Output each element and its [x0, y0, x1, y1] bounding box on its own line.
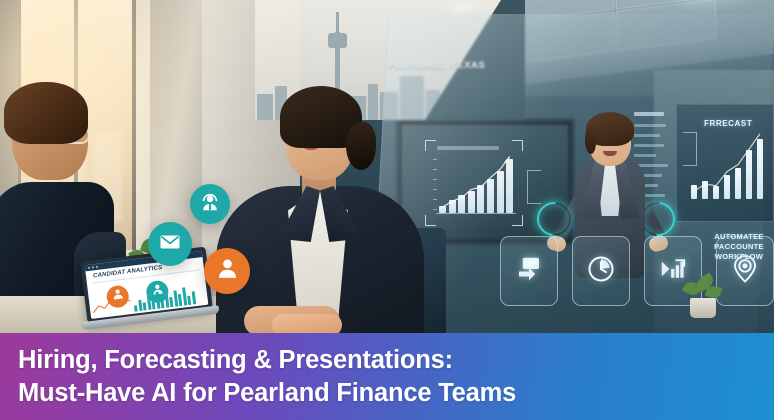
badge-recruiter[interactable]: [190, 184, 230, 224]
axis-tick: [433, 159, 437, 160]
laptop-chart-bar: [143, 302, 147, 310]
laptop-chart-bar: [178, 294, 182, 306]
banner-line-1: Hiring, Forecasting & Presentations:: [18, 344, 774, 377]
title-banner: Hiring, Forecasting & Presentations: Mus…: [0, 333, 774, 420]
document-download-icon: [514, 254, 544, 289]
office-scene: PEARLAND, TEXAS: [0, 0, 774, 333]
person-female-icon: [215, 256, 240, 286]
laptop-chart-bar: [164, 289, 169, 308]
laptop-chart-bar: [146, 296, 151, 310]
bar-chart-arrow-icon: [658, 254, 688, 289]
laptop-chart-bar: [191, 291, 196, 304]
plant-pot: [690, 298, 716, 318]
titlebar-dot: [96, 266, 98, 268]
growth-card[interactable]: [644, 236, 702, 306]
laptop-chart-bar: [138, 300, 142, 311]
businesswoman: [210, 78, 430, 333]
avatar-hair-side: [585, 128, 596, 154]
banner-line-2: Must-Have AI for Pearland Finance Teams: [18, 377, 774, 410]
tower-spike: [336, 12, 339, 34]
laptop-chart-bar: [134, 305, 138, 311]
forecast-label: FRRECAST: [704, 119, 752, 128]
axis-tick: [433, 179, 437, 180]
woman-ponytail: [346, 122, 376, 170]
axis-tick: [433, 209, 437, 210]
laptop-chart-bar: [169, 297, 173, 307]
promotional-banner-image: PEARLAND, TEXAS: [0, 0, 774, 420]
chart-trend-line: [425, 140, 523, 226]
laptop-chart-bar: [173, 291, 178, 307]
trend-sparkline: [91, 292, 133, 319]
laptop-chart-bar: [182, 287, 187, 305]
tower-pod: [328, 33, 347, 48]
hud-bracket-left: [527, 170, 541, 204]
axis-tick: [433, 189, 437, 190]
pie-clock-icon: [586, 254, 616, 289]
laptop-chart-bar: [187, 296, 191, 305]
time-analytics-card[interactable]: [572, 236, 630, 306]
axis-tick: [433, 199, 437, 200]
badge-email[interactable]: [148, 222, 192, 266]
laptop-chart-bar: [151, 299, 155, 309]
axis-tick: [433, 169, 437, 170]
holographic-growth-chart: [425, 140, 523, 226]
laptop-chart-bar: [155, 292, 160, 309]
woman-hands-overlap: [272, 314, 342, 333]
titlebar-dot: [92, 266, 94, 268]
titlebar-dot: [88, 267, 90, 269]
invoice-card[interactable]: [500, 236, 558, 306]
person-headset-icon: [199, 191, 221, 218]
hud-bracket-right: [683, 132, 697, 166]
laptop-chart-bar: [160, 296, 164, 309]
badge-candidate[interactable]: [204, 248, 250, 294]
man-hair: [4, 82, 88, 144]
envelope-icon: [158, 230, 182, 259]
automation-workflow-label: AUTOMATEE PACCOUNTE WORKFLOW: [704, 232, 774, 262]
